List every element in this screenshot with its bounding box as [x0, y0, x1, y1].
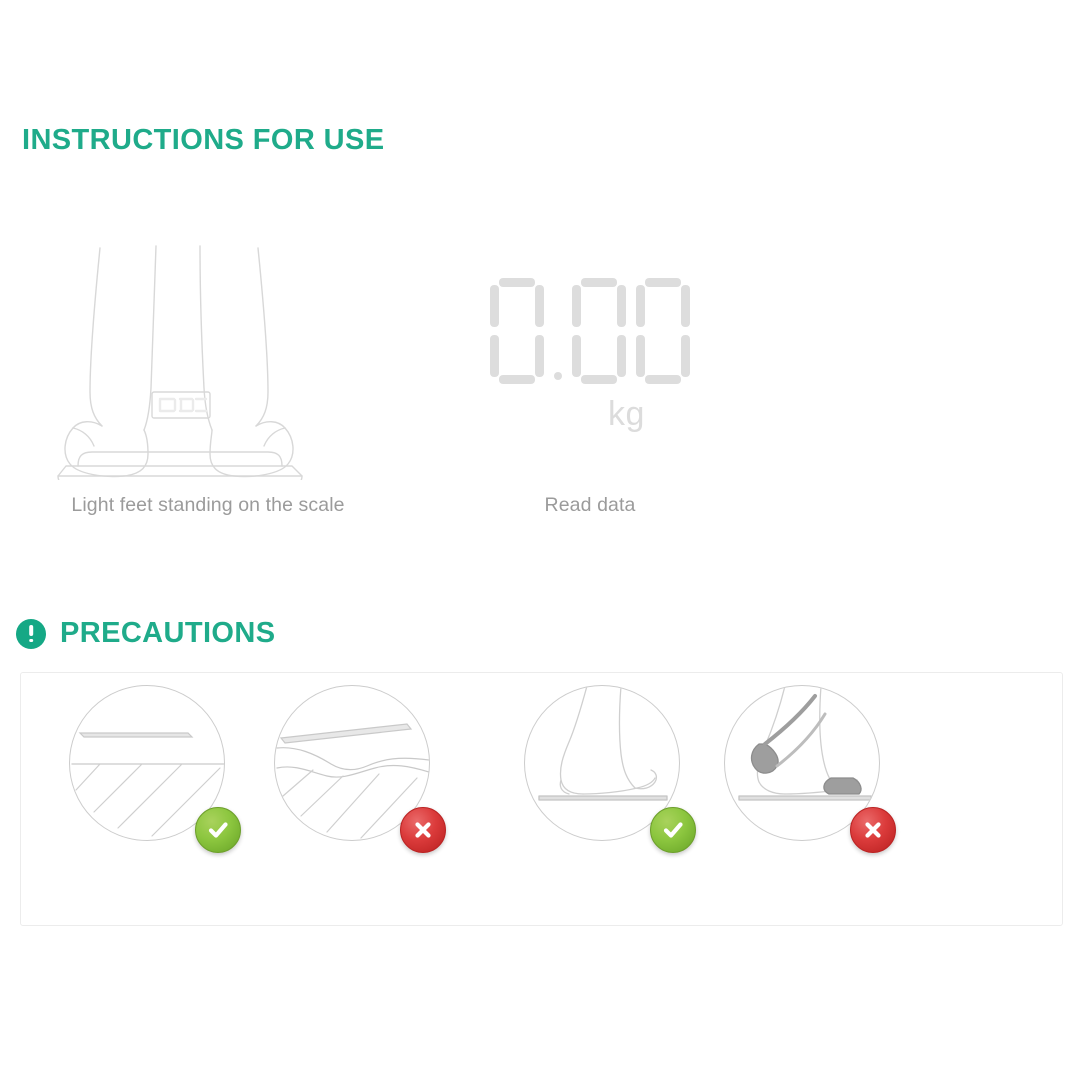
instruction-step-1-caption: Light feet standing on the scale: [48, 494, 368, 517]
precaution-item-uneven-floor: [274, 685, 434, 855]
exclamation-circle-icon: [16, 619, 46, 649]
precautions-section-title: PRECAUTIONS: [60, 617, 275, 650]
precaution-items: [21, 685, 1062, 865]
check-icon: [195, 807, 241, 853]
product-instructions-page: INSTRUCTIONS FOR USE: [0, 0, 1080, 1080]
precautions-panel: [20, 672, 1063, 926]
instructions-section-title: INSTRUCTIONS FOR USE: [22, 124, 384, 157]
precaution-item-bare-foot: [524, 685, 684, 855]
check-icon: [650, 807, 696, 853]
feet-on-scale-illustration: [48, 230, 368, 480]
instruction-steps: Light feet standing on the scale: [0, 230, 1080, 530]
lcd-digit-0: [490, 278, 544, 384]
precautions-header: PRECAUTIONS: [16, 617, 275, 650]
precaution-item-hard-floor: [69, 685, 229, 855]
lcd-decimal-point: [554, 372, 562, 380]
instruction-step-2: kg Read data: [430, 230, 750, 517]
lcd-display-illustration: kg: [430, 230, 750, 480]
lcd-digit-2: [636, 278, 690, 384]
lcd-unit-label: kg: [608, 395, 645, 434]
cross-icon: [400, 807, 446, 853]
lcd-digit-1: [572, 278, 626, 384]
cross-icon: [850, 807, 896, 853]
instruction-step-2-caption: Read data: [430, 494, 750, 517]
precaution-item-shoe-foot: [724, 685, 884, 855]
lcd-digits: [490, 278, 690, 384]
instruction-step-1: Light feet standing on the scale: [48, 230, 368, 517]
